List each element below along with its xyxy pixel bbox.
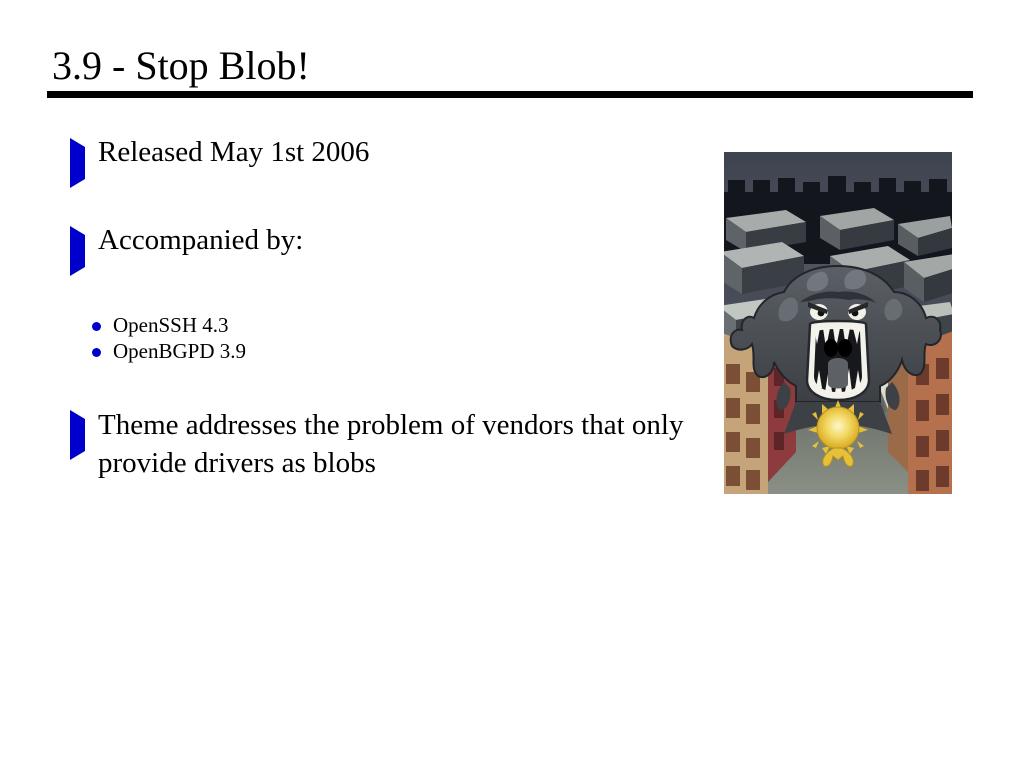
sub-bullet-label-openbgpd: OpenBGPD 3.9 <box>113 338 246 364</box>
bullet-label-accompanied: Accompanied by: <box>98 222 690 259</box>
blob-mouth <box>807 321 869 400</box>
dot-bullet-icon <box>92 322 101 331</box>
triangle-bullet-icon <box>70 233 87 250</box>
bullet-label-theme: Theme addresses the problem of vendors t… <box>98 406 710 482</box>
sub-bullet-label-openssh: OpenSSH 4.3 <box>113 312 229 338</box>
bullet-item-accompanied: Accompanied by: <box>70 222 690 259</box>
sub-bullet-item-openssh: OpenSSH 4.3 <box>92 312 246 338</box>
bullet-item-released: Released May 1st 2006 <box>70 134 690 171</box>
triangle-bullet-icon <box>70 417 87 434</box>
triangle-bullet-icon <box>70 145 87 162</box>
sub-bullet-item-openbgpd: OpenBGPD 3.9 <box>92 338 246 364</box>
dot-bullet-icon <box>92 348 101 357</box>
bullet-item-theme: Theme addresses the problem of vendors t… <box>70 406 710 482</box>
bullet-label-released: Released May 1st 2006 <box>98 134 690 171</box>
stop-blob-illustration <box>724 152 952 494</box>
sub-bullet-list: OpenSSH 4.3 OpenBGPD 3.9 <box>92 312 246 364</box>
